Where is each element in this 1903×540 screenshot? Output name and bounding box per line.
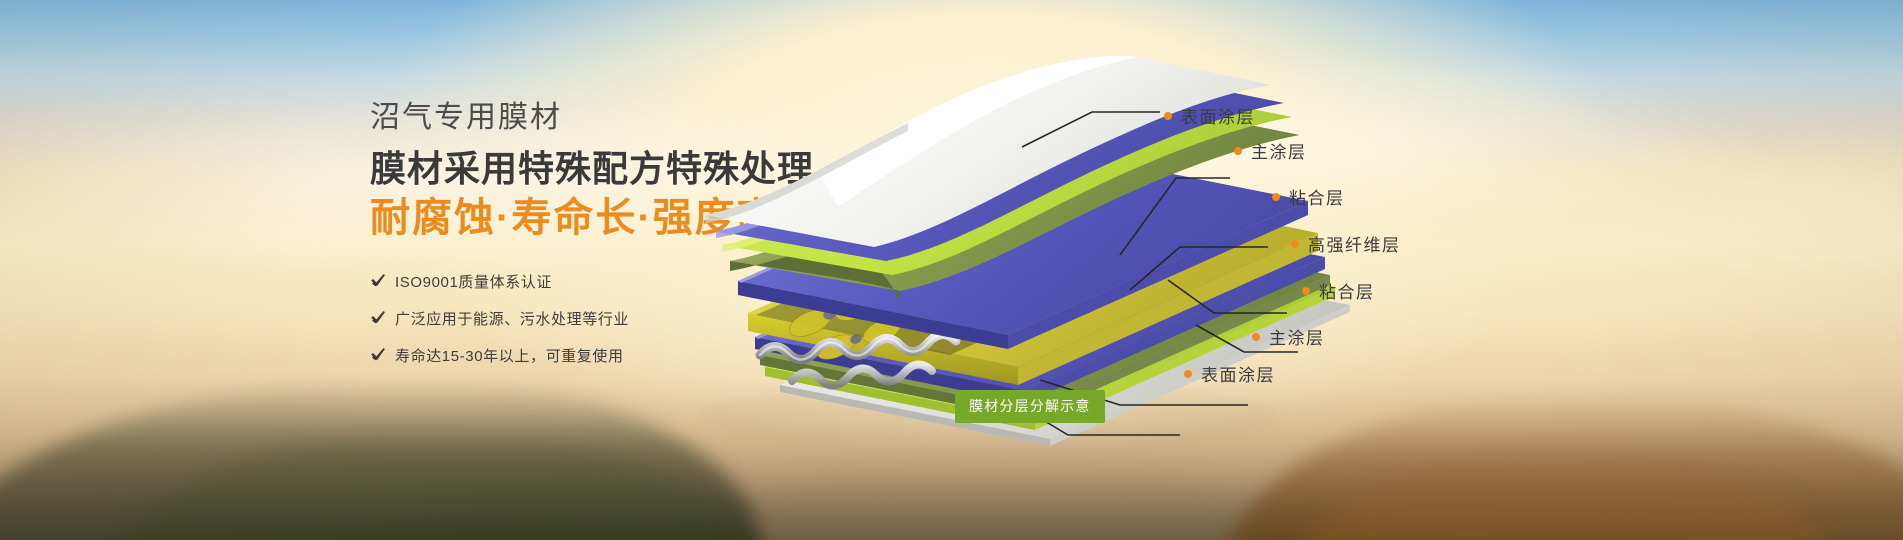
diagram-caption-badge: 膜材分层分解示意 — [955, 390, 1105, 423]
banner-stage: 沼气专用膜材 膜材采用特殊配方特殊处理 耐腐蚀·寿命长·强度高 ISO9001质… — [0, 0, 1903, 540]
callout-leader-lines — [0, 0, 1903, 540]
